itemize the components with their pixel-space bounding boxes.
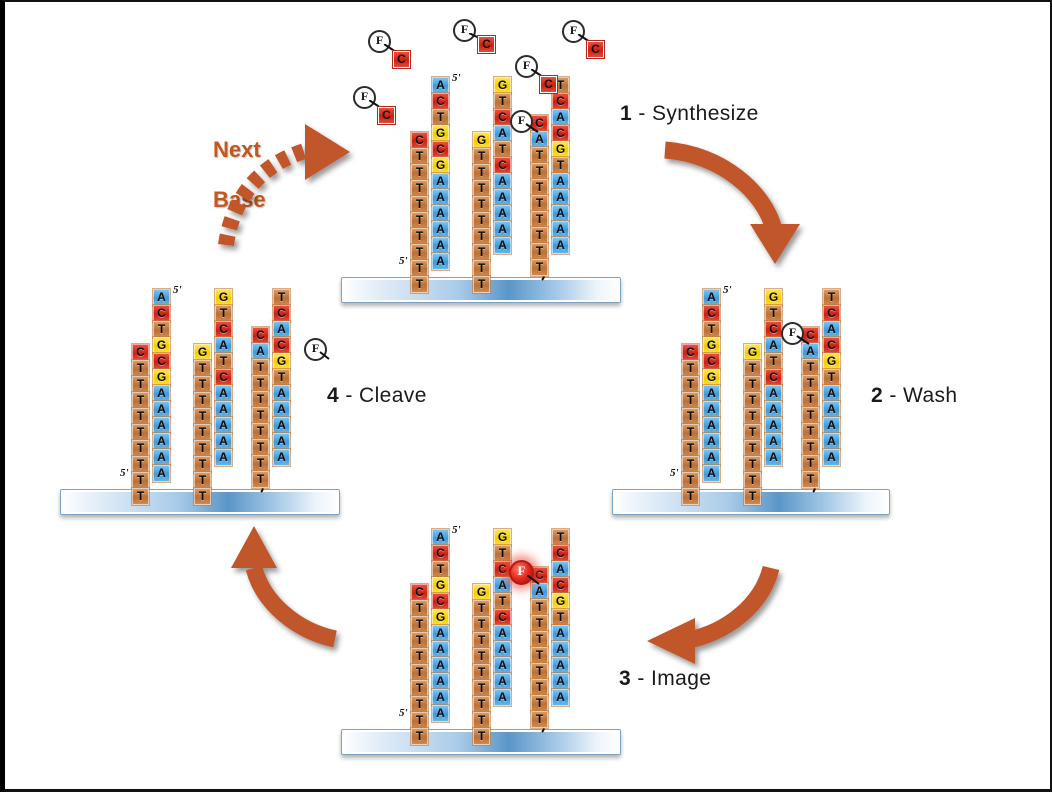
five-prime-top-image: 5' [452, 524, 461, 536]
free-nt-base: C [393, 51, 410, 68]
growing-strand-2-synthesize: GTCATCAAAAA [494, 78, 511, 254]
growing-strand-1-image: ACTGCGAAAAAA [432, 530, 449, 722]
five-prime-bottom-cleave: 5' [120, 467, 129, 479]
growing-strand-3-cleave: TCACGTAAAAA [273, 290, 290, 466]
free-nt-base: C [378, 107, 395, 124]
arrow-wash-to-image [647, 568, 771, 664]
arrow-synthesize-to-wash [665, 150, 800, 264]
growing-strand-2-image: GTCATCAAAAA [494, 530, 511, 706]
template-strand-2-synthesize: GTTTTTTTTT [473, 133, 490, 293]
five-prime-bottom-synthesize: 5' [399, 255, 408, 267]
fluorophore-stem [319, 351, 333, 362]
five-prime-bottom-image: 5' [399, 707, 408, 719]
free-nt-base: C [540, 76, 557, 93]
template-strand-1-synthesize: CTTTTTTTTT [411, 133, 428, 293]
template-strand-2-wash: GTTTTTTTTT [744, 345, 761, 505]
growing-strand-2-wash: GTCATCAAAAA [765, 290, 782, 466]
template-strand-3-synthesize: CATTTTTTTT [531, 116, 548, 276]
five-prime-top-wash: 5' [723, 284, 732, 296]
growing-strand-3-synthesize: TCACGTAAAAA [552, 78, 569, 254]
fluorophore-stem [525, 123, 541, 135]
growing-strand-1-cleave: ACTGCGAAAAAA [153, 290, 170, 482]
growing-strand-3-image: TCACGTAAAAA [552, 530, 569, 706]
growing-strand-1-synthesize: ACTGCGAAAAAA [432, 78, 449, 270]
free-nt-base: C [587, 41, 604, 58]
template-strand-3-wash: CATTTTTTTT [802, 328, 819, 488]
fluorophore-stem [796, 335, 812, 347]
growing-strand-1-wash: ACTGCGAAAAAA [703, 290, 720, 482]
five-prime-bottom-wash: 5' [670, 467, 679, 479]
growing-strand-2-cleave: GTCATCAAAAA [215, 290, 232, 466]
five-prime-top-cleave: 5' [173, 284, 182, 296]
template-strand-1-wash: CTTTTTTTTT [682, 345, 699, 505]
arrow-cleave-to-synthesize-dashed [226, 124, 350, 245]
fluorophore-stem [527, 575, 543, 587]
five-prime-top-synthesize: 5' [452, 72, 461, 84]
template-strand-3-cleave: CATTTTTTTT [252, 328, 269, 488]
growing-strand-3-wash: TCACGTAAAAA [823, 290, 840, 466]
template-strand-2-cleave: GTTTTTTTTT [194, 345, 211, 505]
template-strand-2-image: GTTTTTTTTT [473, 585, 490, 745]
free-nt-base: C [478, 36, 495, 53]
template-strand-1-cleave: CTTTTTTTTT [132, 345, 149, 505]
template-strand-1-image: CTTTTTTTTT [411, 585, 428, 745]
template-strand-3-image: CATTTTTTTT [531, 568, 548, 728]
arrow-image-to-cleave [231, 526, 335, 639]
figure-root: 1 - Synthesize 2 - Wash 3 - Image 4 - Cl… [0, 0, 1052, 792]
